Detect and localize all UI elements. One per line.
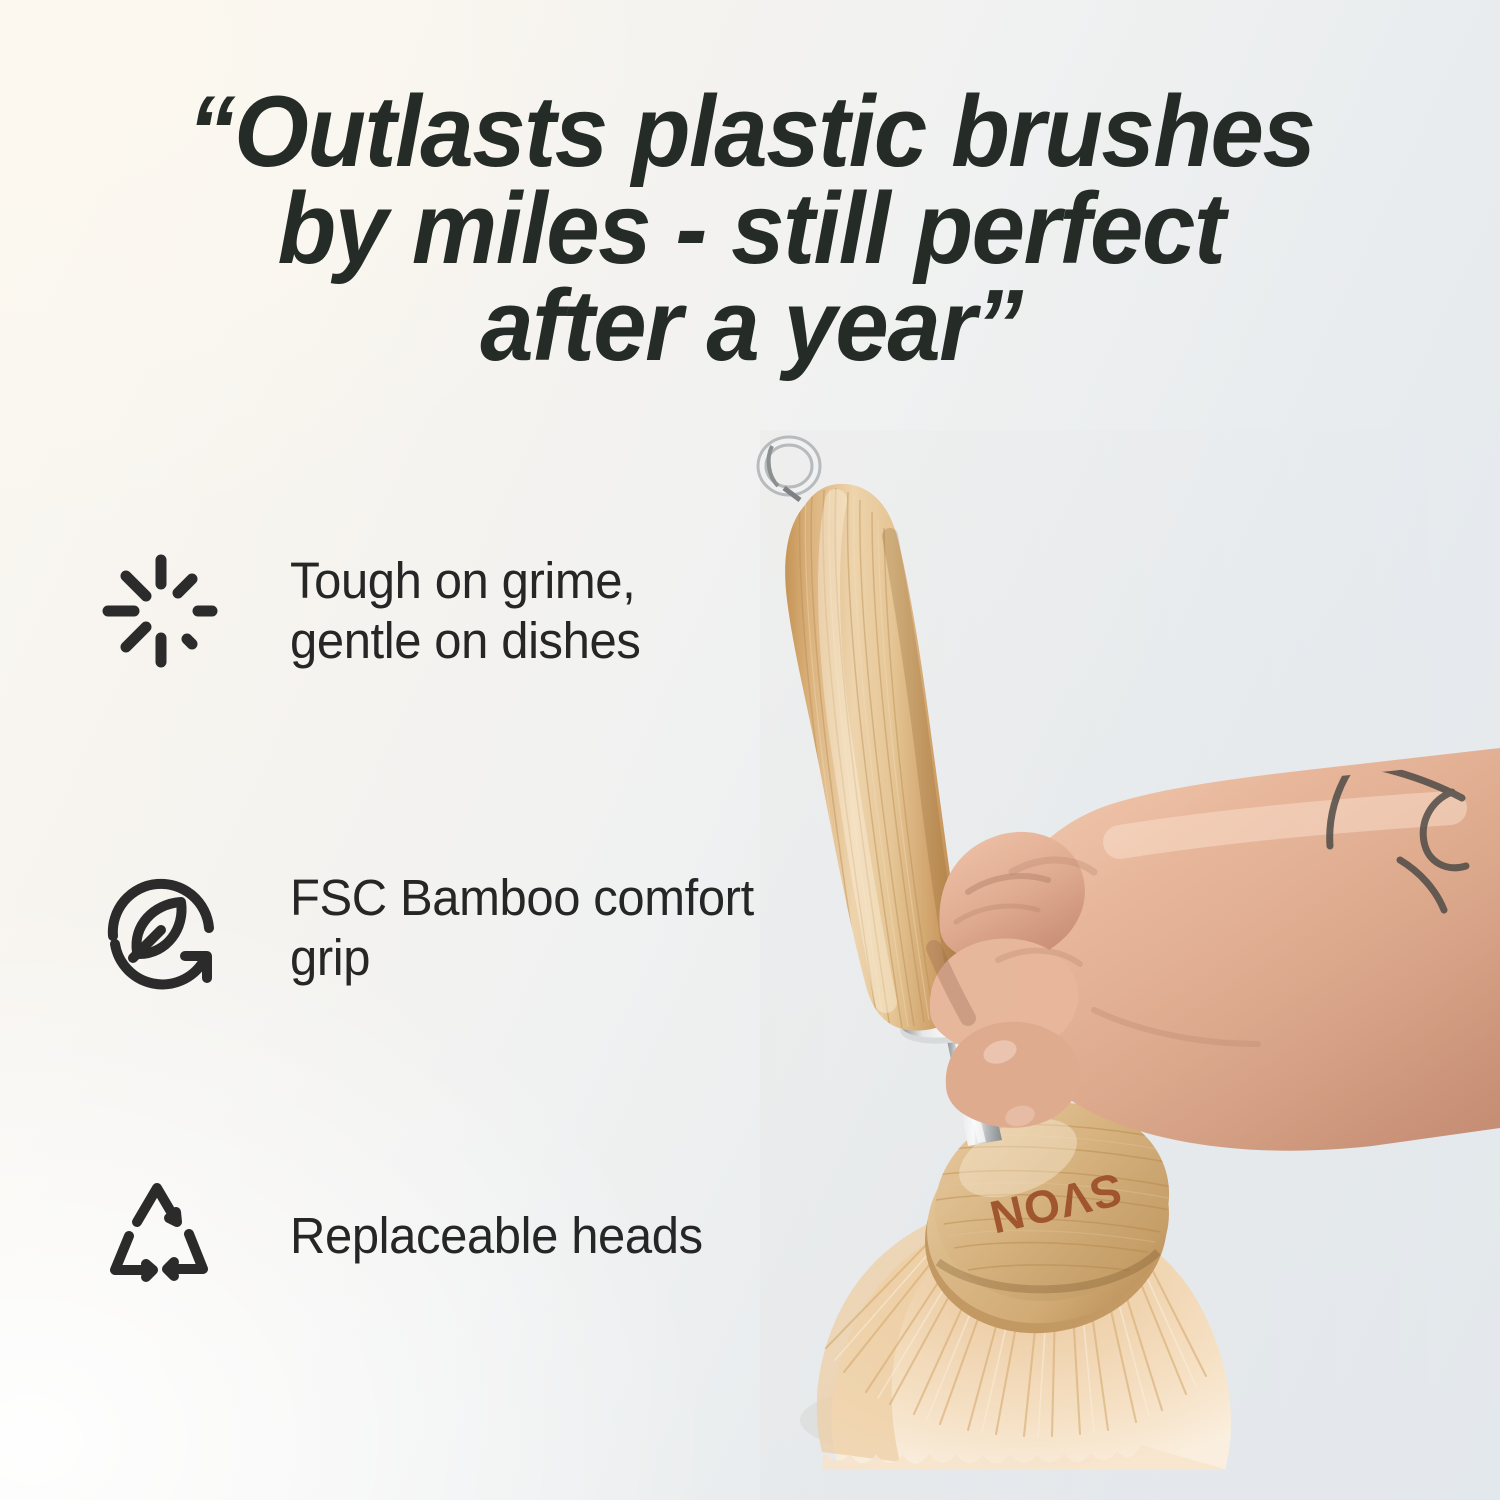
product-feature-panel: SVON [0,0,1500,1500]
hand-tattoo [1330,762,1466,910]
sparkle-shine-icon [95,545,227,677]
leaf-cycle-icon [95,862,227,994]
feature-item-fsc-bamboo-grip: FSC Bamboo comfort grip [95,862,773,994]
wood-grain-head [926,1124,1182,1278]
hand-with-tattoo [930,748,1500,1151]
feature-label: Replaceable heads [290,1206,703,1266]
feature-label: Tough on grime, gentle on dishes [290,551,640,671]
metal-shaft [898,998,1002,1146]
recycle-triangle-icon [95,1170,227,1302]
knuckle-shading [998,860,1258,1044]
feature-item-replaceable-heads: Replaceable heads [95,1170,720,1302]
svg-text:SVON: SVON [984,1163,1127,1244]
replaceable-brush-head: SVON [905,1080,1190,1357]
feature-item-tough-on-grime: Tough on grime, gentle on dishes [95,545,655,677]
brand-stamp: SVON [984,1163,1127,1244]
feature-label: FSC Bamboo comfort grip [290,868,754,988]
feature-list: Tough on grime, gentle on dishes [0,0,900,1500]
